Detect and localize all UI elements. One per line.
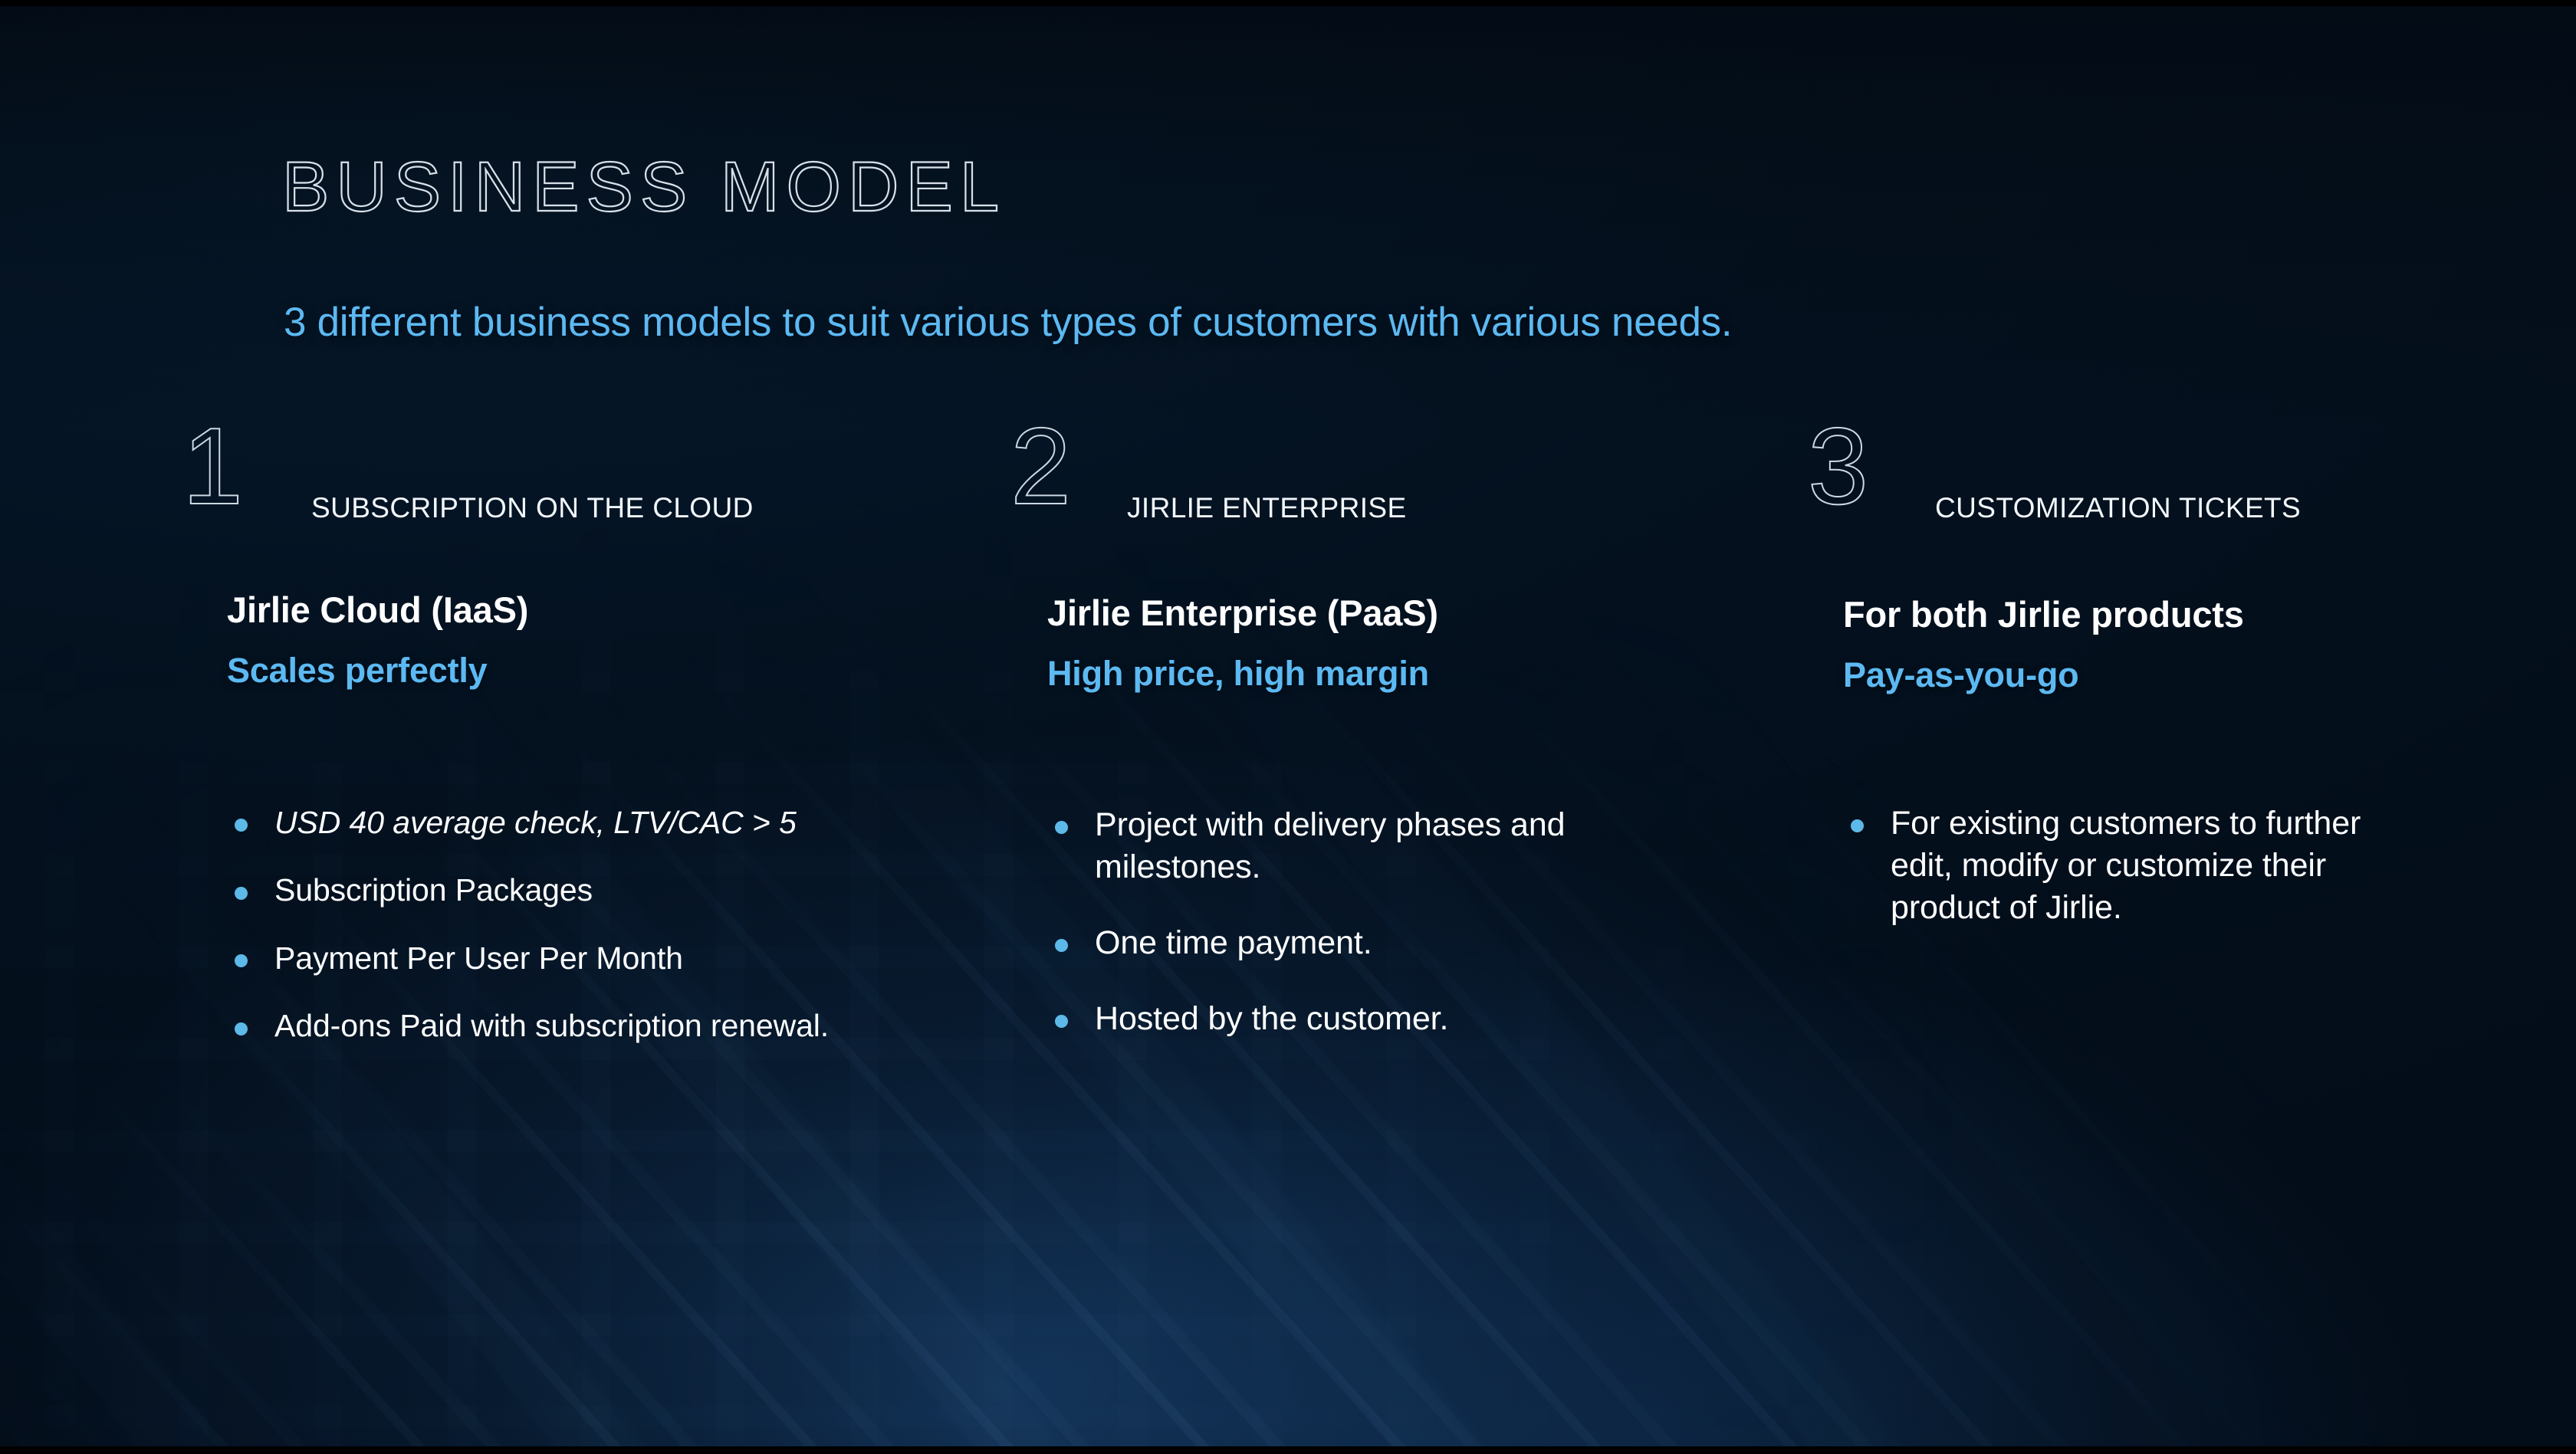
list-item: Payment Per User Per Month	[227, 938, 917, 978]
column-eyebrow-label: CUSTOMIZATION TICKETS	[1935, 492, 2301, 524]
column-number-2: 2	[1010, 412, 1071, 521]
column-header: 3 CUSTOMIZATION TICKETS	[1808, 426, 2576, 549]
slide-title: BUSINESS MODEL	[282, 152, 1006, 222]
column-tagline: High price, high margin	[1047, 654, 1792, 694]
list-item: Subscription Packages	[227, 870, 917, 910]
list-item: One time payment.	[1047, 922, 1684, 964]
column-header: 2 JIRLIE ENTERPRISE	[1010, 426, 1792, 549]
column-bullet-list: USD 40 average check, LTV/CAC > 5 Subscr…	[227, 802, 917, 1046]
bullet-text: Project with delivery phases and milesto…	[1095, 806, 1565, 885]
bullet-text: Hosted by the customer.	[1095, 1000, 1448, 1037]
column-bullet-list: For existing customers to further edit, …	[1843, 802, 2426, 929]
list-item: Project with delivery phases and milesto…	[1047, 804, 1684, 888]
column-product-name: Jirlie Cloud (IaaS)	[227, 589, 995, 631]
bullet-text: USD 40 average check, LTV/CAC > 5	[274, 805, 797, 840]
column-number-3: 3	[1808, 412, 1868, 521]
bullet-text: One time payment.	[1095, 924, 1372, 961]
column-product-name: Jirlie Enterprise (PaaS)	[1047, 592, 1792, 634]
letterbox-top-bar	[0, 0, 2576, 6]
column-tagline: Pay-as-you-go	[1843, 655, 2576, 695]
business-model-columns: 1 SUBSCRIPTION ON THE CLOUD Jirlie Cloud…	[0, 426, 2576, 1407]
list-item: For existing customers to further edit, …	[1843, 802, 2426, 929]
column-eyebrow-label: JIRLIE ENTERPRISE	[1127, 492, 1407, 524]
column-product-name: For both Jirlie products	[1843, 593, 2576, 635]
bullet-text: Payment Per User Per Month	[274, 940, 683, 976]
bullet-text: Add-ons Paid with subscription renewal.	[274, 1008, 829, 1043]
list-item: Add-ons Paid with subscription renewal.	[227, 1006, 917, 1045]
model-column-subscription-cloud: 1 SUBSCRIPTION ON THE CLOUD Jirlie Cloud…	[182, 426, 995, 1074]
slide-subtitle: 3 different business models to suit vari…	[284, 299, 1732, 346]
column-tagline: Scales perfectly	[227, 651, 995, 691]
column-number-1: 1	[182, 412, 243, 521]
letterbox-bottom-bar	[0, 1446, 2576, 1454]
column-header: 1 SUBSCRIPTION ON THE CLOUD	[182, 426, 995, 549]
model-column-jirlie-enterprise: 2 JIRLIE ENTERPRISE Jirlie Enterprise (P…	[1010, 426, 1792, 1074]
column-eyebrow-label: SUBSCRIPTION ON THE CLOUD	[311, 492, 754, 524]
list-item: Hosted by the customer.	[1047, 998, 1684, 1040]
model-column-customization-tickets: 3 CUSTOMIZATION TICKETS For both Jirlie …	[1808, 426, 2576, 957]
bullet-text: For existing customers to further edit, …	[1891, 805, 2361, 926]
presentation-slide: BUSINESS MODEL 3 different business mode…	[0, 0, 2576, 1454]
bullet-text: Subscription Packages	[274, 872, 593, 908]
column-bullet-list: Project with delivery phases and milesto…	[1047, 804, 1684, 1040]
list-item: USD 40 average check, LTV/CAC > 5	[227, 802, 917, 842]
